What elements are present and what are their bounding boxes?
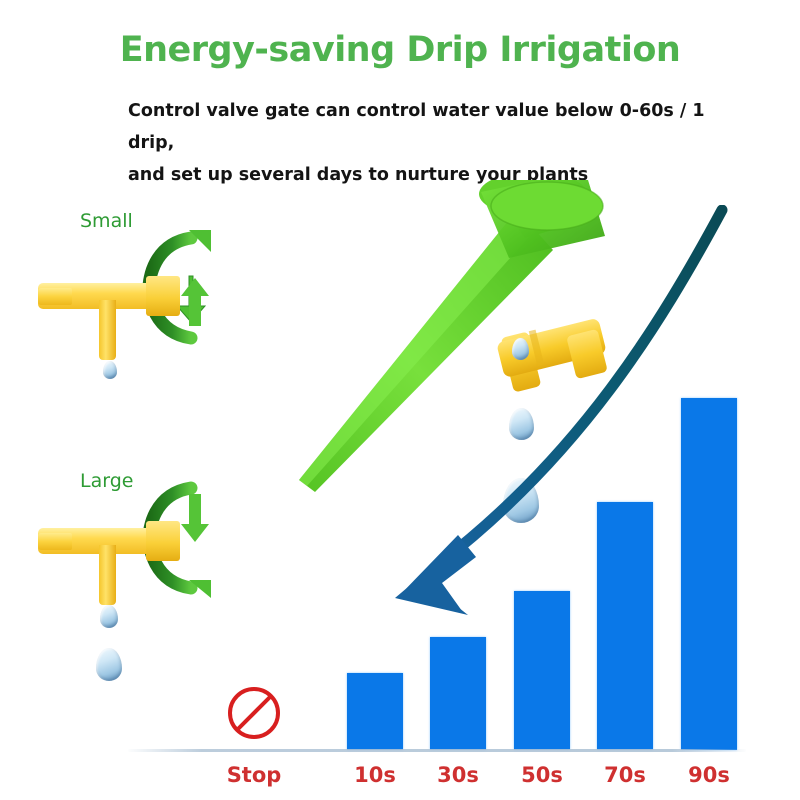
axis-label-stop: Stop [214,763,294,787]
axis-label-50s: 50s [502,763,582,787]
axis-label-70s: 70s [585,763,665,787]
no-entry-icon [226,685,282,741]
bar-90s [681,398,737,750]
bar-chart: Stop 10s 30s 50s 70s 90s [0,0,800,800]
axis-label-30s: 30s [418,763,498,787]
infographic-page: Energy-saving Drip Irrigation Control va… [0,0,800,800]
bar-70s [597,502,653,750]
bar-10s [347,673,403,750]
axis-label-10s: 10s [335,763,415,787]
axis-label-90s: 90s [669,763,749,787]
bar-50s [514,591,570,750]
bar-30s [430,637,486,750]
chart-baseline [128,749,746,752]
